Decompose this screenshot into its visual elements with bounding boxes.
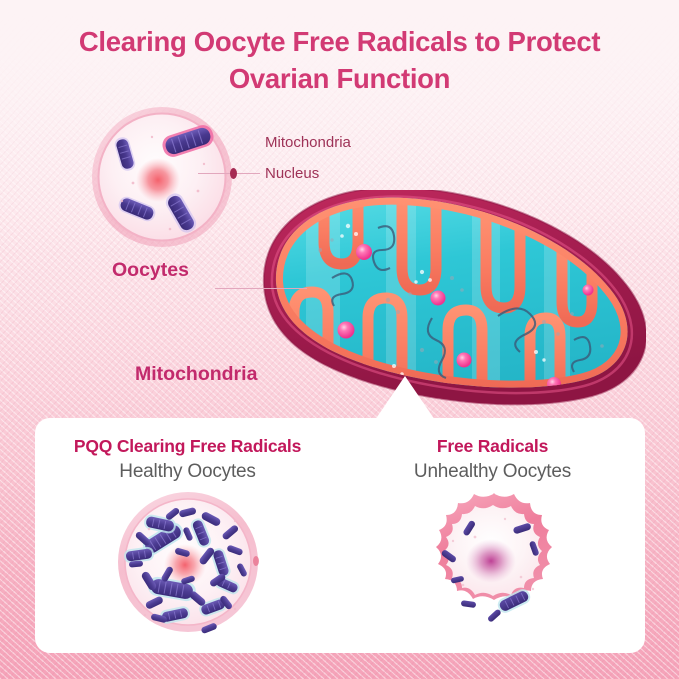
nucleus-marker-dot — [230, 168, 237, 179]
infographic-poster: Clearing Oocyte Free Radicals to Protect… — [0, 0, 679, 679]
callout-label-mitochondria: Mitochondria — [265, 134, 351, 151]
healthy-cell-polar-body — [253, 556, 259, 566]
section-label-oocytes: Oocytes — [112, 259, 189, 282]
oocytes-leader-line — [215, 288, 307, 289]
unhealthy-cell-illustration — [340, 489, 645, 639]
callout-label-nucleus: Nucleus — [265, 165, 319, 182]
page-title: Clearing Oocyte Free Radicals to Protect… — [0, 24, 679, 97]
comparison-card: PQQ Clearing Free Radicals Healthy Oocyt… — [35, 418, 645, 653]
page-title-line-2: Ovarian Function — [0, 61, 679, 98]
panel-healthy-title: PQQ Clearing Free Radicals — [35, 436, 340, 457]
oocyte-cell-illustration — [86, 101, 238, 253]
panel-healthy-oocytes: PQQ Clearing Free Radicals Healthy Oocyt… — [35, 418, 340, 653]
panel-unhealthy-title: Free Radicals — [340, 436, 645, 457]
healthy-cell-illustration — [35, 489, 340, 639]
unhealthy-cell-nucleus — [466, 539, 516, 583]
nucleus-leader-line — [198, 173, 260, 174]
mitochondrion-illustration — [236, 190, 646, 422]
arrow-up-icon — [375, 376, 435, 420]
page-title-line-1: Clearing Oocyte Free Radicals to Protect — [0, 24, 679, 61]
panel-unhealthy-oocytes: Free Radicals Unhealthy Oocytes — [340, 418, 645, 653]
section-label-mitochondria: Mitochondria — [135, 363, 257, 386]
panel-healthy-subtitle: Healthy Oocytes — [35, 461, 340, 483]
panel-unhealthy-subtitle: Unhealthy Oocytes — [340, 461, 645, 483]
